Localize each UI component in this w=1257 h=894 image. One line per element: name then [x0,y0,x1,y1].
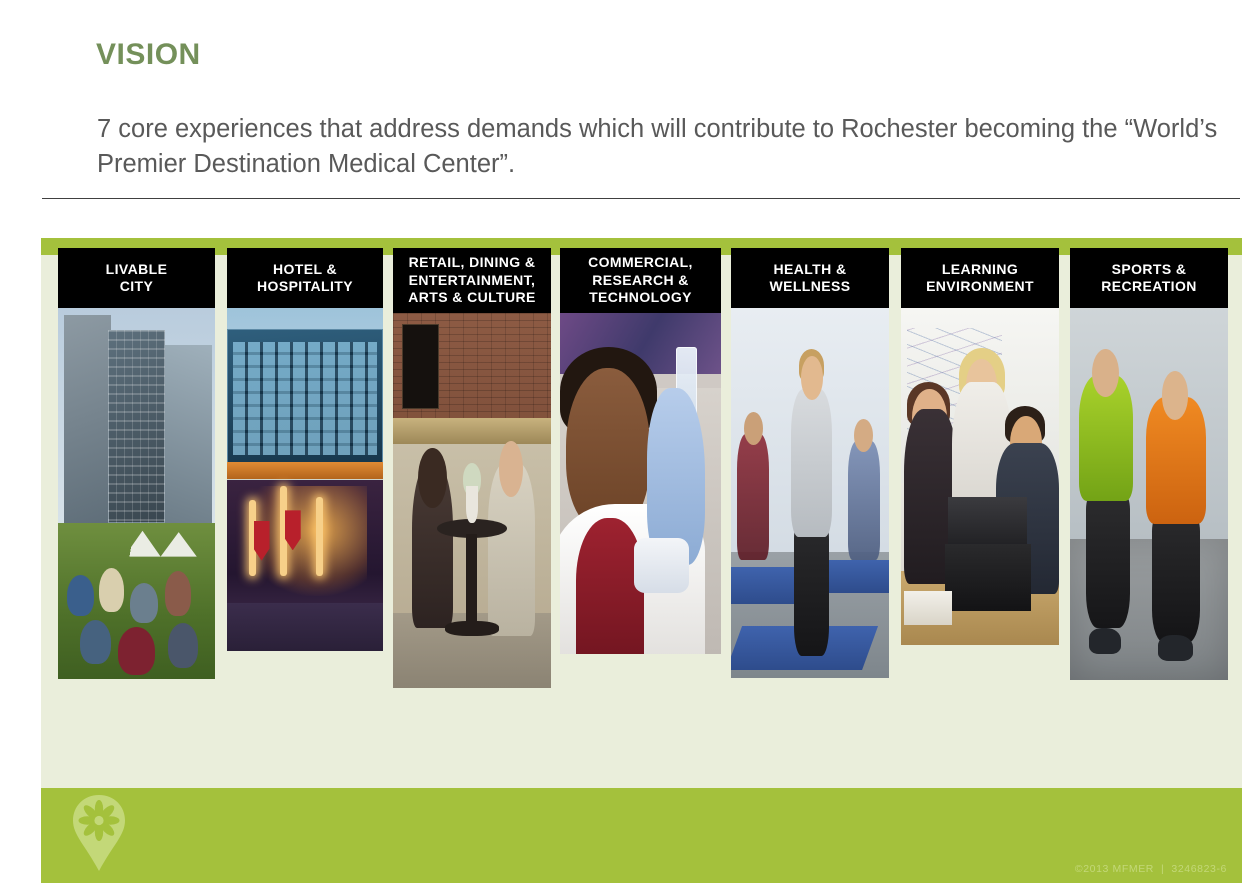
column-header-commercial-research: COMMERCIAL, RESEARCH & TECHNOLOGY [560,248,721,313]
experience-columns: LIVABLE CITY HOTEL & HOSPITALITY [41,248,1242,788]
mayo-clinic-pin-logo-icon [69,793,129,873]
footer-band: ©2013 MFMER | 3246823-6 [41,788,1242,883]
column-photo-learning-environment [901,308,1059,645]
experience-column-commercial-research[interactable]: COMMERCIAL, RESEARCH & TECHNOLOGY [560,248,721,654]
column-header-sports-recreation: SPORTS & RECREATION [1070,248,1228,308]
column-header-health-wellness: HEALTH & WELLNESS [731,248,889,308]
column-header-livable-city: LIVABLE CITY [58,248,215,308]
experience-column-hotel-hospitality[interactable]: HOTEL & HOSPITALITY [227,248,383,651]
experience-column-learning-environment[interactable]: LEARNING ENVIRONMENT [901,248,1059,645]
column-photo-commercial-research [560,313,721,654]
page-subtitle: 7 core experiences that address demands … [97,112,1232,182]
column-photo-livable-city [58,308,215,679]
column-photo-sports-recreation [1070,308,1228,680]
page-title: VISION [96,38,201,72]
experience-column-retail-dining[interactable]: RETAIL, DINING & ENTERTAINMENT, ARTS & C… [393,248,551,688]
column-header-retail-dining: RETAIL, DINING & ENTERTAINMENT, ARTS & C… [393,248,551,313]
copyright-text: ©2013 MFMER | 3246823-6 [1075,863,1227,875]
column-photo-retail-dining [393,313,551,688]
column-header-learning-environment: LEARNING ENVIRONMENT [901,248,1059,308]
experience-column-sports-recreation[interactable]: SPORTS & RECREATION [1070,248,1228,680]
column-photo-hotel-hospitality [227,308,383,651]
column-header-hotel-hospitality: HOTEL & HOSPITALITY [227,248,383,308]
experience-column-health-wellness[interactable]: HEALTH & WELLNESS [731,248,889,678]
experiences-panel: LIVABLE CITY HOTEL & HOSPITALITY [41,238,1242,788]
title-divider [42,198,1240,199]
experience-column-livable-city[interactable]: LIVABLE CITY [58,248,215,679]
column-photo-health-wellness [731,308,889,678]
